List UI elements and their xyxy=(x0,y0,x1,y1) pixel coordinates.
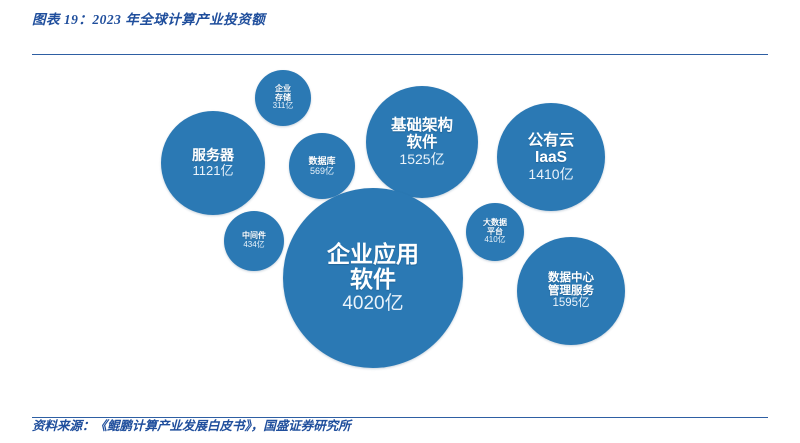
bubble-基础架构软件: 基础架构 软件1525亿 xyxy=(366,86,478,198)
bubble-value: 434亿 xyxy=(243,241,264,250)
bubble-label: 数据中心 管理服务 xyxy=(548,272,594,298)
bubble-服务器: 服务器1121亿 xyxy=(161,111,265,215)
bubble-value: 1595亿 xyxy=(552,297,589,310)
bubble-value: 569亿 xyxy=(310,166,334,176)
bubble-value: 311亿 xyxy=(273,102,294,111)
bubble-value: 4020亿 xyxy=(342,293,403,314)
bubble-value: 1525亿 xyxy=(399,152,444,168)
bubble-企业存储: 企业 存储311亿 xyxy=(255,70,311,126)
bubble-label: 企业 存储 xyxy=(275,85,291,103)
bubble-label: 服务器 xyxy=(192,148,234,164)
bubble-中间件: 中间件434亿 xyxy=(224,211,284,271)
bubble-企业应用软件: 企业应用 软件4020亿 xyxy=(283,188,463,368)
bubble-label: 基础架构 软件 xyxy=(391,117,453,152)
bubble-公有云IaaS: 公有云 IaaS1410亿 xyxy=(497,103,605,211)
bubble-value: 1121亿 xyxy=(193,164,234,179)
bubble-value: 410亿 xyxy=(484,236,505,245)
bubble-label: 数据库 xyxy=(308,156,335,166)
bubble-数据中心管理服务: 数据中心 管理服务1595亿 xyxy=(517,237,625,345)
figure-page: 图表 19：2023 年全球计算产业投资额 企业 存储311亿服务器1121亿数… xyxy=(0,0,800,443)
bubble-value: 1410亿 xyxy=(528,167,573,183)
page-title: 图表 19：2023 年全球计算产业投资额 xyxy=(32,8,265,28)
bubble-数据库: 数据库569亿 xyxy=(289,133,355,199)
bubble-label: 大数据 平台 xyxy=(483,219,507,237)
bubble-label: 企业应用 软件 xyxy=(327,242,419,294)
bubble-label: 公有云 IaaS xyxy=(528,132,575,167)
bubble-chart: 企业 存储311亿服务器1121亿数据库569亿基础架构 软件1525亿公有云 … xyxy=(0,50,800,408)
source-note: 资料来源：《鲲鹏计算产业发展白皮书》，国盛证券研究所 xyxy=(32,415,351,434)
bubble-大数据平台: 大数据 平台410亿 xyxy=(466,203,524,261)
